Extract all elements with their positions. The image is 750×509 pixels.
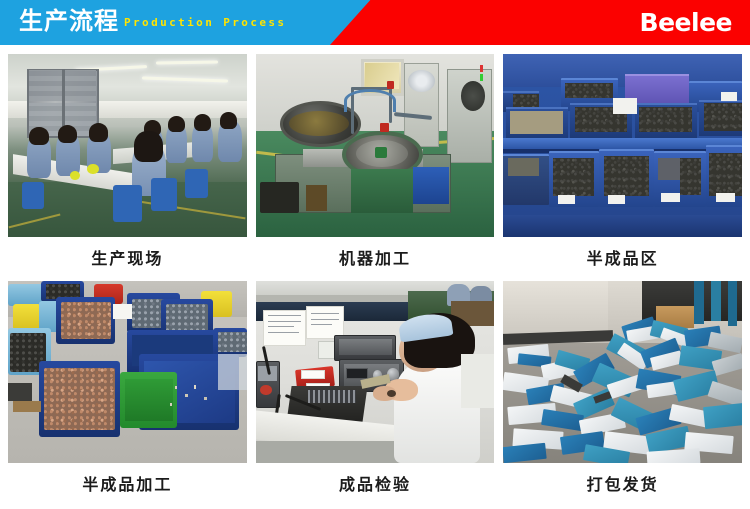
page-title-cn: 生产流程 (19, 6, 119, 36)
photo-caption: 机器加工 (256, 237, 495, 277)
page-title-en: Production Process (124, 16, 286, 30)
finished-goods-inspection-photo (256, 281, 495, 464)
grid-cell-production-floor: 生产现场 (8, 54, 247, 277)
photo-caption: 生产现场 (8, 237, 247, 277)
photo-caption: 打包发货 (503, 463, 742, 503)
page-header-banner: 生产流程 Production Process Beelee (0, 0, 750, 45)
process-photo-grid: 生产现场 (0, 45, 750, 509)
grid-cell-finished-inspection: 成品检验 (256, 281, 495, 504)
packing-and-shipping-photo (503, 281, 742, 464)
grid-cell-packing-shipping: 打包发货 (503, 281, 742, 504)
photo-caption: 半成品区 (503, 237, 742, 277)
machine-processing-photo (256, 54, 495, 237)
grid-cell-semi-finished-area: 半成品区 (503, 54, 742, 277)
semi-finished-goods-area-photo (503, 54, 742, 237)
brand-logo: Beelee (640, 8, 732, 37)
photo-caption: 半成品加工 (8, 463, 247, 503)
grid-cell-semi-finished-processing: 半成品加工 (8, 281, 247, 504)
photo-caption: 成品检验 (256, 463, 495, 503)
semi-finished-processing-photo (8, 281, 247, 464)
production-process-page: 生产流程 Production Process Beelee (0, 0, 750, 509)
production-floor-photo (8, 54, 247, 237)
grid-cell-machine-processing: 机器加工 (256, 54, 495, 277)
